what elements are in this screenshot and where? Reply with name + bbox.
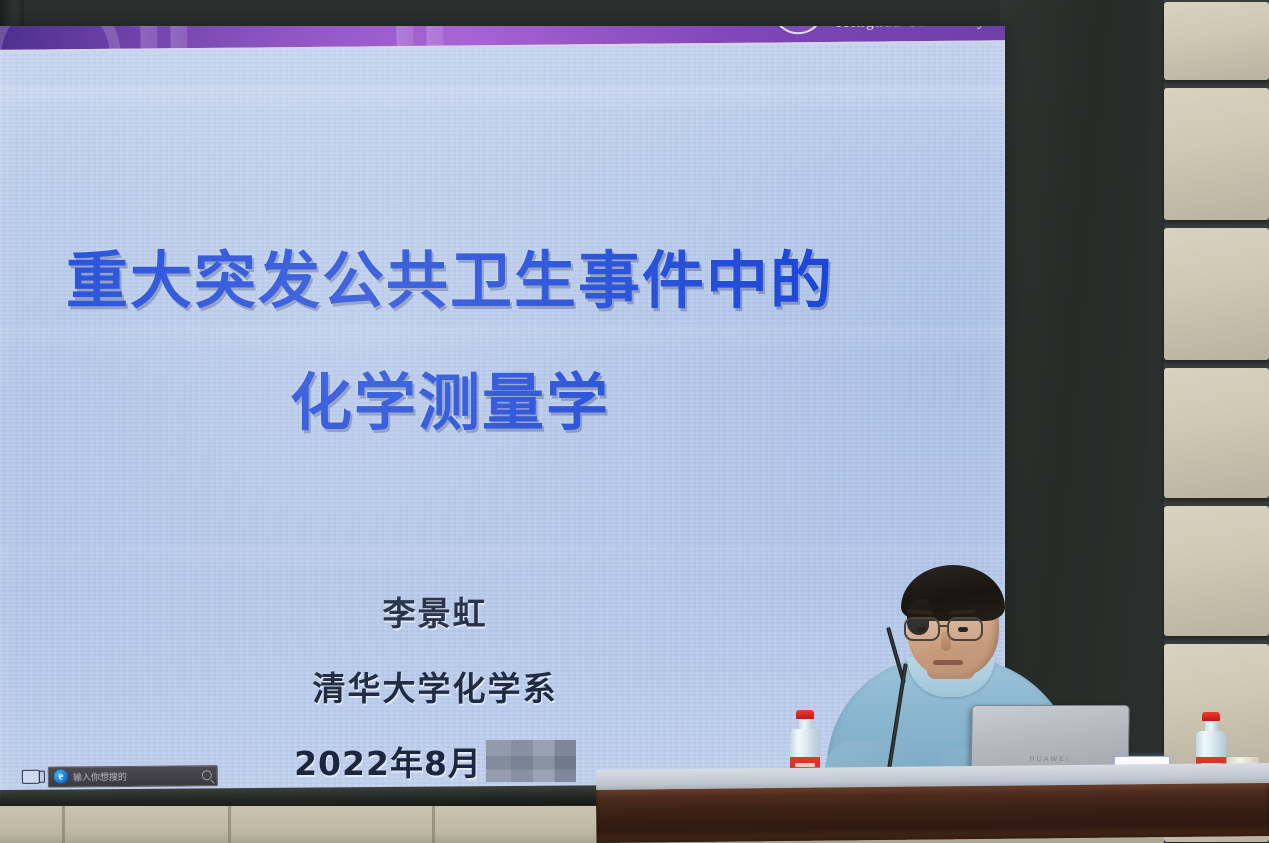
acoustic-panel [1164,2,1269,80]
panel-seam [62,806,65,843]
glasses-bridge [940,625,948,627]
gate-column [170,26,188,48]
tsinghua-gate-graphic [0,26,121,52]
presenter-nose [941,631,951,651]
slide-header-banner: 清华大学 Tsinghua University [0,26,1005,52]
slide-title-line-1: 重大突发公共卫生事件中的 [0,248,900,315]
gate-column [140,26,158,49]
bottle-neck [1205,721,1218,731]
acoustic-panel [1164,368,1269,498]
bottle-cap [796,710,814,719]
lecture-hall-scene: 清华大学 Tsinghua University 重大突发公共卫生事件中的 化学… [0,0,1269,843]
search-icon[interactable] [202,770,212,780]
bottle-neck [799,719,812,729]
tsinghua-seal-logo-icon [772,26,824,34]
acoustic-panel [1164,506,1269,636]
acoustic-panel [1164,88,1269,220]
date-redaction-mosaic [486,740,576,782]
banner-institution-en: Tsinghua University [834,26,986,32]
laptop-brand-label: HUAWEI [1029,756,1070,763]
search-input[interactable]: 输入你想搜的 [73,769,127,782]
panel-seam [228,806,231,843]
acoustic-panel [1164,228,1269,360]
presenter-affiliation: 清华大学化学系 [130,662,740,710]
presenter-mouth [933,660,963,665]
panel-seam [432,806,435,843]
gate-column [426,26,444,46]
presenter-eye-right [958,627,968,632]
desk-front-panel [596,783,1269,843]
gate-column [396,26,414,46]
task-view-icon[interactable] [22,770,40,784]
edge-browser-icon[interactable] [54,769,68,783]
slide-title-line-2: 化学测量学 [0,370,900,437]
taskbar-search-box[interactable]: 输入你想搜的 [48,765,218,787]
bottle-cap [1202,712,1220,721]
presenter-eye-left [917,627,927,632]
presenter-name: 李景虹 [130,587,740,635]
